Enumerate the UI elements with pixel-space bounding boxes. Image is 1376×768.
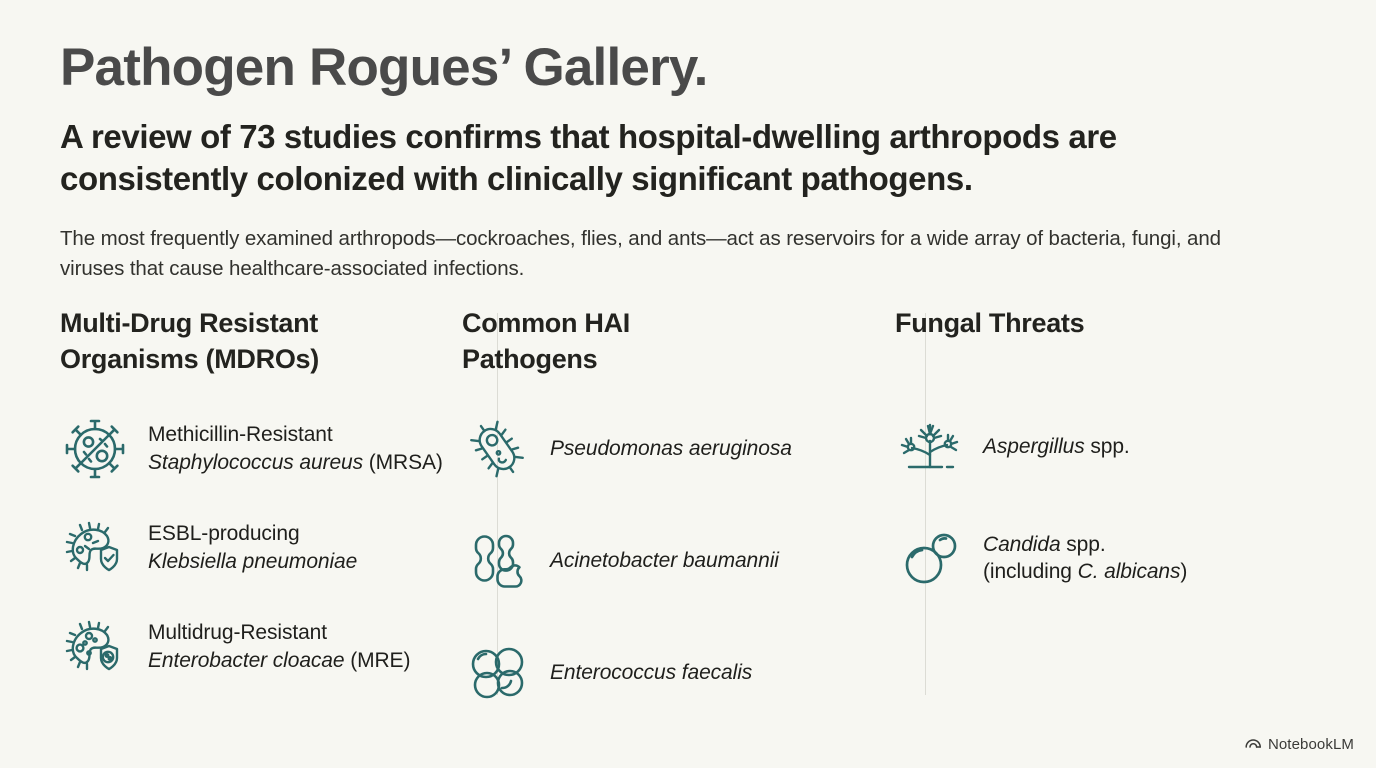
items-list-hai: Pseudomonas aeruginosa Acinetobacter bau… (462, 414, 865, 708)
species-variant: C. albicans (1078, 560, 1181, 583)
species-name: Enterobacter cloacae (148, 649, 344, 672)
label-line-1: Methicillin-Resistant (148, 421, 443, 449)
label-line-2: Staphylococcus aureus (MRSA) (148, 449, 443, 477)
columns-container: Multi-Drug Resistant Organisms (MDROs) (0, 305, 1376, 705)
species-suffix: spp. (1061, 533, 1106, 556)
list-item: ESBL-producing Klebsiella pneumoniae (60, 513, 437, 583)
header: Pathogen Rogues’ Gallery. A review of 73… (0, 0, 1376, 284)
list-item: Multidrug-Resistant Enterobacter cloacae… (60, 612, 437, 682)
list-item-label: Aspergillus spp. (983, 433, 1130, 461)
species-name: Klebsiella pneumoniae (148, 550, 357, 573)
rod-bacillus-icon (462, 414, 532, 484)
budding-yeast-icon (895, 523, 965, 593)
mold-hyphae-icon (895, 411, 965, 481)
column-heading-hai: Common HAI Pathogens (462, 305, 865, 378)
items-list-fungal: Aspergillus spp. Candida spp. (895, 411, 1315, 593)
cocci-cluster-icon (462, 638, 532, 708)
bacterium-shield-microbe-icon (60, 612, 130, 682)
list-item-label: Methicillin-Resistant Staphylococcus aur… (148, 421, 443, 476)
label-line-2: Enterobacter cloacae (MRE) (148, 647, 410, 675)
list-item: Methicillin-Resistant Staphylococcus aur… (60, 414, 437, 484)
species-suffix: (MRE) (344, 649, 410, 672)
virus-slash-icon (60, 414, 130, 484)
species-name: Acinetobacter baumannii (550, 549, 779, 572)
items-list-mdro: Methicillin-Resistant Staphylococcus aur… (60, 414, 437, 682)
species-name: Candida (983, 533, 1061, 556)
list-item: Aspergillus spp. (895, 411, 1315, 481)
species-name: Enterococcus faecalis (550, 661, 752, 684)
list-item-label: Candida spp. (including C. albicans) (983, 531, 1187, 586)
page-title: Pathogen Rogues’ Gallery. (60, 40, 1316, 96)
notebooklm-arch-icon (1245, 734, 1262, 754)
label-line-2: Acinetobacter baumannii (550, 547, 779, 575)
column-hai: Common HAI Pathogens (437, 305, 865, 705)
column-heading-fungal: Fungal Threats (895, 305, 1315, 341)
list-item: Acinetobacter baumannii (462, 526, 865, 596)
bacterium-shield-check-icon (60, 513, 130, 583)
including-suffix: ) (1180, 560, 1187, 583)
label-line-2: Enterococcus faecalis (550, 659, 752, 687)
list-item-label: Pseudomonas aeruginosa (550, 435, 792, 463)
label-line-3: (including C. albicans) (983, 558, 1187, 586)
list-item-label: ESBL-producing Klebsiella pneumoniae (148, 520, 357, 575)
page-subtitle: A review of 73 studies confirms that hos… (60, 116, 1250, 200)
including-prefix: (including (983, 560, 1078, 583)
list-item: Pseudomonas aeruginosa (462, 414, 865, 484)
column-mdro: Multi-Drug Resistant Organisms (MDROs) (0, 305, 437, 705)
label-line-2: Candida spp. (983, 531, 1187, 559)
list-item-label: Multidrug-Resistant Enterobacter cloacae… (148, 619, 410, 674)
species-suffix: spp. (1085, 435, 1130, 458)
list-item-label: Enterococcus faecalis (550, 659, 752, 687)
column-heading-mdro: Multi-Drug Resistant Organisms (MDROs) (60, 305, 437, 378)
label-line-1: Multidrug-Resistant (148, 619, 410, 647)
list-item-label: Acinetobacter baumannii (550, 547, 779, 575)
column-fungal: Fungal Threats (865, 305, 1315, 705)
label-line-2: Pseudomonas aeruginosa (550, 435, 792, 463)
brand-name: NotebookLM (1268, 736, 1354, 753)
species-name: Staphylococcus aureus (148, 451, 363, 474)
label-line-2: Klebsiella pneumoniae (148, 548, 357, 576)
label-line-1: ESBL-producing (148, 520, 357, 548)
label-line-2: Aspergillus spp. (983, 433, 1130, 461)
species-name: Pseudomonas aeruginosa (550, 437, 792, 460)
list-item: Candida spp. (including C. albicans) (895, 523, 1315, 593)
page-lede: The most frequently examined arthropods—… (60, 224, 1270, 283)
species-suffix: (MRSA) (363, 451, 443, 474)
footer-brand: NotebookLM (1245, 734, 1354, 754)
coccobacilli-pairs-icon (462, 526, 532, 596)
species-name: Aspergillus (983, 435, 1085, 458)
infographic-page: Pathogen Rogues’ Gallery. A review of 73… (0, 0, 1376, 768)
list-item: Enterococcus faecalis (462, 638, 865, 708)
